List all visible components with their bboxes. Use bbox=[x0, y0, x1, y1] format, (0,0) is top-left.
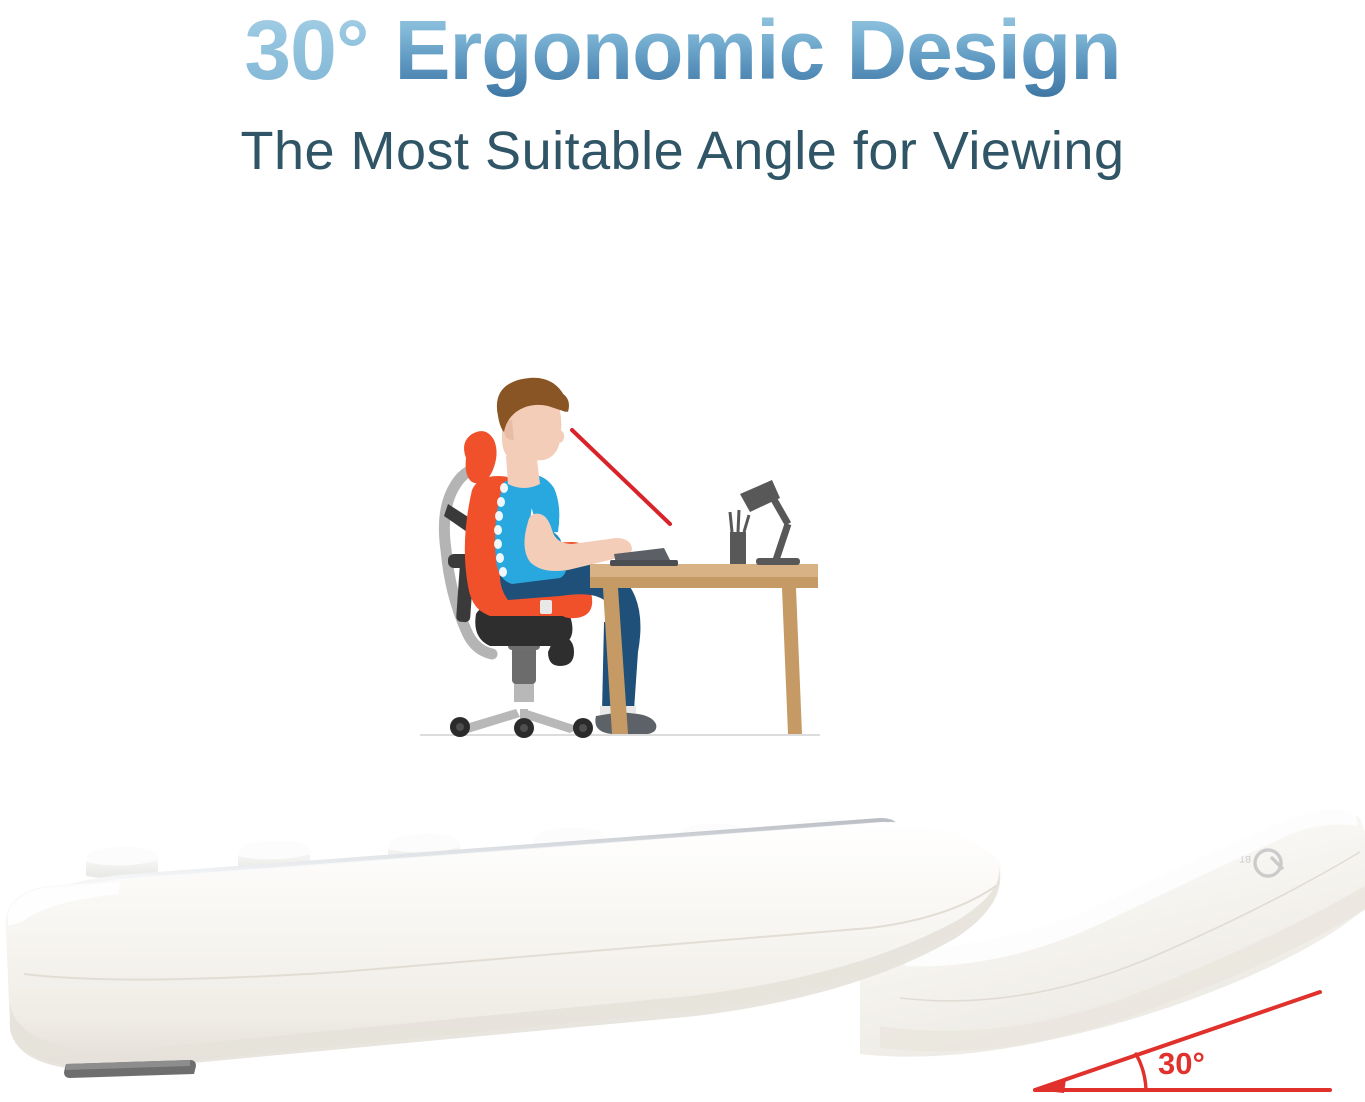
ergonomic-posture-illustration bbox=[420, 372, 820, 747]
angle-value-label: 30° bbox=[1158, 1047, 1205, 1081]
sight-line-icon bbox=[572, 430, 670, 524]
ergonomic-posture-svg bbox=[420, 372, 820, 747]
marketing-banner-page: 30°Ergonomic Design The Most Suitable An… bbox=[0, 0, 1365, 1102]
headline-degree-value: 30° bbox=[244, 3, 368, 97]
angle-diagram-svg bbox=[1000, 975, 1365, 1102]
desk-lamp-icon bbox=[740, 480, 800, 565]
svg-text:BT: BT bbox=[1239, 854, 1251, 864]
thirty-degree-angle-diagram bbox=[1000, 975, 1365, 1102]
chair-headrest-icon bbox=[464, 431, 497, 484]
angle-arc-icon bbox=[1136, 1054, 1146, 1090]
headline-main-text: Ergonomic Design bbox=[394, 3, 1120, 97]
pen-cup-icon bbox=[730, 510, 749, 564]
page-subtitle: The Most Suitable Angle for Viewing bbox=[0, 118, 1365, 184]
page-title: 30°Ergonomic Design bbox=[0, 2, 1365, 98]
